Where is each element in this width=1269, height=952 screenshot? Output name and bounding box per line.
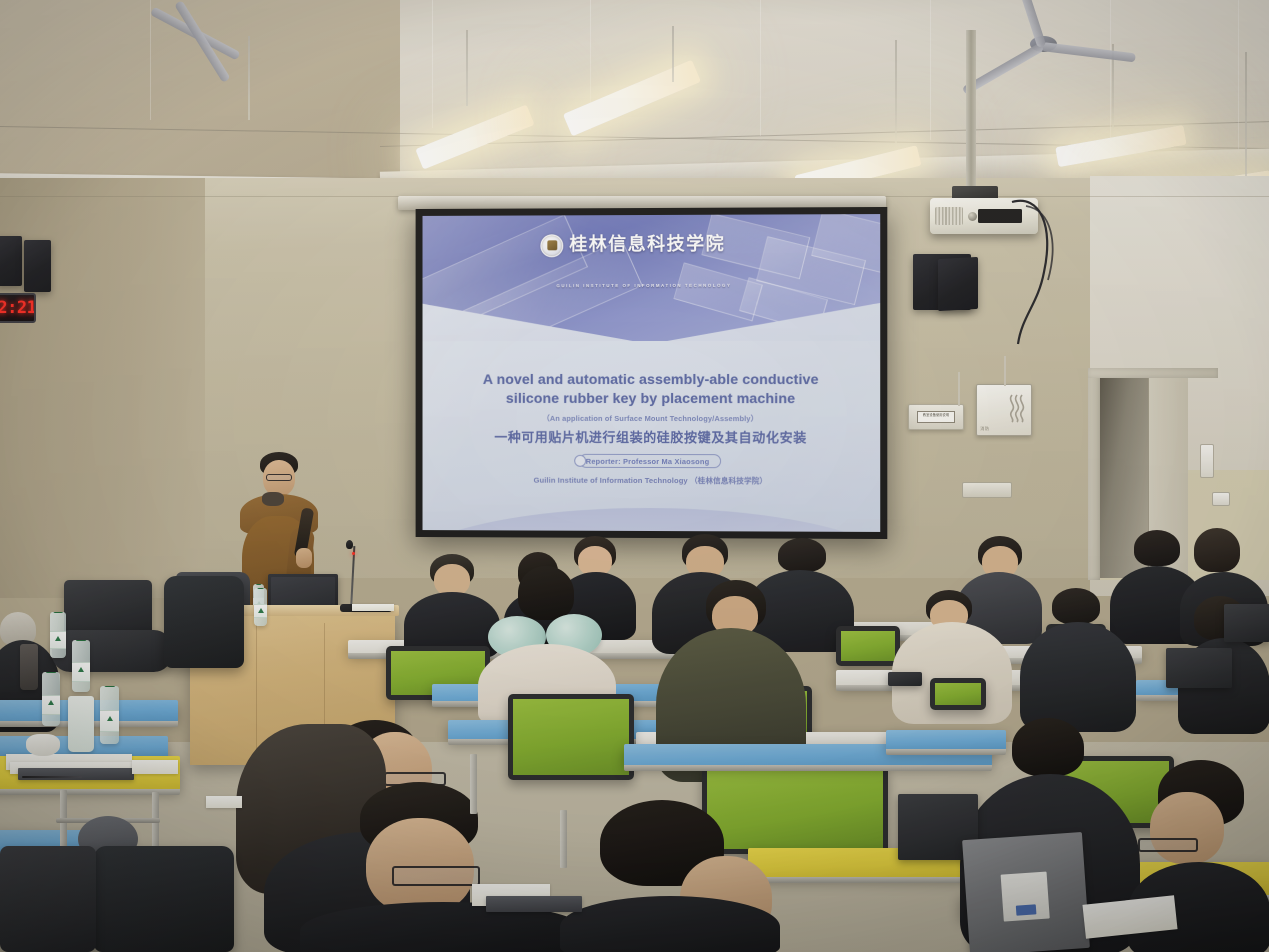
light-stem (466, 30, 468, 106)
chair (508, 694, 634, 780)
backpack (164, 576, 244, 668)
slide-subtitle-cn: 一种可用贴片机进行组装的硅胶按键及其自动化安装 (423, 427, 881, 447)
water-bottle (50, 612, 66, 658)
slide-subtitle-en: （An application of Surface Mount Technol… (423, 413, 881, 425)
sign-text: 教室设备使用说明 (918, 412, 955, 417)
projector-vent (935, 207, 963, 225)
bag-floor (0, 846, 96, 952)
conduit (958, 372, 960, 406)
slide-footer-shape (423, 507, 881, 532)
university-seal-icon (540, 234, 563, 257)
wall-speaker (0, 236, 22, 286)
presenter-hand (296, 548, 312, 568)
projector-lens (968, 212, 977, 221)
water-bottle (100, 686, 119, 744)
projector-cable (1000, 176, 1090, 356)
light-switch-plate[interactable] (1200, 444, 1214, 478)
water-bottle (72, 640, 90, 692)
pen (22, 776, 82, 778)
ceiling-seam (760, 0, 761, 136)
papers (132, 760, 178, 774)
slide-logo: 桂林信息科技学院 (540, 234, 725, 258)
notebook (18, 768, 134, 780)
ceiling-seam (432, 0, 433, 128)
wall-speaker (24, 240, 51, 292)
ceiling-seam (930, 0, 931, 140)
laptop[interactable] (888, 672, 922, 686)
wall-speaker (938, 257, 978, 311)
chair (930, 678, 986, 710)
travel-mug (20, 644, 38, 690)
lecture-hall-photo: 12:21 教室设备使用说明 消防 (0, 0, 1269, 952)
podium-papers (352, 604, 394, 611)
panel-label: 消防 (980, 426, 989, 432)
duffel-bag (52, 630, 172, 672)
papers (206, 796, 242, 808)
light-stem (672, 26, 674, 82)
projector-pole (966, 30, 976, 198)
clock-time: 12:21 (0, 298, 36, 318)
ceiling-seam (1238, 0, 1239, 150)
bottle-cap (255, 584, 262, 585)
chair (836, 626, 900, 666)
ceiling-seam (1110, 0, 1111, 146)
paper-cup (68, 696, 94, 752)
audience-member-foreground (300, 782, 586, 952)
light-stem (1245, 52, 1247, 178)
desk-leg (560, 810, 567, 868)
computer-mouse (26, 734, 60, 756)
laptop[interactable] (1166, 648, 1232, 688)
notebook (486, 896, 582, 912)
fire-alarm-panel: 消防 (976, 384, 1032, 436)
microphone-head (346, 540, 353, 549)
eyeglasses (392, 866, 480, 886)
slide-text-block: A novel and automatic assembly-able cond… (423, 341, 881, 532)
slide-title-line2: silicone rubber key by placement machine (423, 390, 881, 409)
presentation-slide: 桂林信息科技学院 GUILIN INSTITUTE OF INFORMATION… (423, 214, 881, 532)
gear-icon (574, 455, 586, 467)
light-stem (895, 40, 897, 144)
eyeglasses (1138, 838, 1198, 852)
slide-affiliation: Guilin Institute of Information Technolo… (423, 474, 881, 486)
wall-clock: 12:21 (0, 293, 36, 323)
wall-info-sign: 教室设备使用说明 (908, 404, 964, 430)
laptop[interactable] (962, 832, 1090, 952)
projection-screen: 桂林信息科技学院 GUILIN INSTITUTE OF INFORMATION… (416, 207, 888, 539)
laptop-sticker (1001, 872, 1050, 921)
reporter-text: Reporter: Professor Ma Xiaosong (586, 456, 710, 465)
microphone-led (352, 552, 355, 555)
light-switch-plate[interactable] (1212, 492, 1230, 506)
water-bottle (254, 588, 267, 626)
slide-reporter-badge: Reporter: Professor Ma Xiaosong (579, 454, 722, 468)
presenter-collar (262, 492, 284, 506)
ceiling-seam (150, 0, 151, 120)
laptop[interactable] (1224, 604, 1269, 642)
sign-inner-panel: 教室设备使用说明 (917, 411, 956, 423)
institution-name-en: GUILIN INSTITUTE OF INFORMATION TECHNOLO… (556, 283, 731, 288)
backpack-floor (94, 846, 234, 952)
wall-outlet-strip (962, 482, 1012, 498)
door-frame (1088, 370, 1100, 580)
conduit (1004, 356, 1006, 386)
audience-member-foreground (560, 800, 780, 952)
desk-leg (470, 754, 477, 814)
institution-name-cn: 桂林信息科技学院 (569, 236, 725, 255)
audience-member (1020, 588, 1136, 730)
door-header (1088, 368, 1218, 378)
water-bottle (42, 672, 60, 726)
presenter-glasses (266, 474, 292, 481)
laptop-bag (64, 580, 152, 636)
light-stem (248, 36, 250, 120)
slide-title-line1: A novel and automatic assembly-able cond… (423, 371, 881, 390)
wave-icon (1006, 393, 1028, 423)
